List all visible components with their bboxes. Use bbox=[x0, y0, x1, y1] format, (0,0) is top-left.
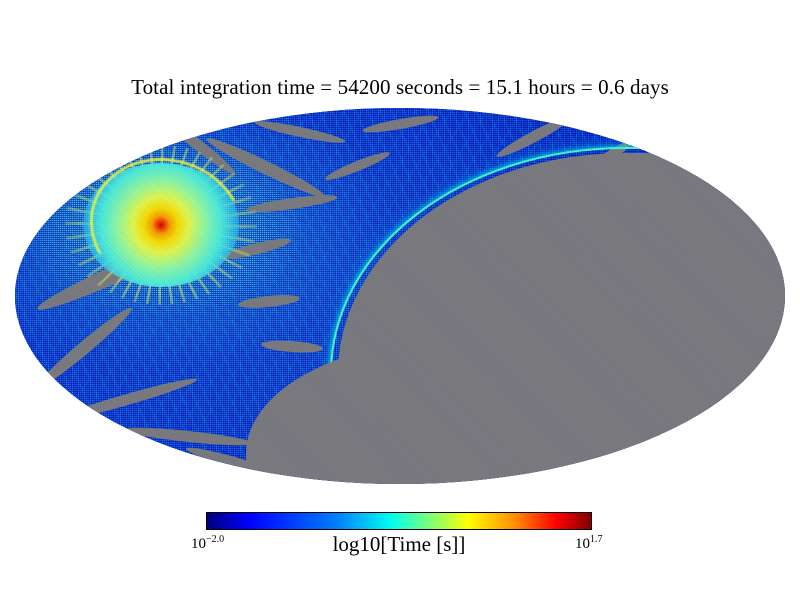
sky-map bbox=[15, 108, 785, 484]
colorbar-min-base: 10 bbox=[191, 536, 206, 552]
dither-overlay bbox=[15, 108, 785, 484]
mollweide-projection-area bbox=[15, 108, 785, 484]
colorbar bbox=[206, 512, 592, 530]
figure-canvas: Total integration time = 54200 seconds =… bbox=[0, 0, 800, 600]
page-title: Total integration time = 54200 seconds =… bbox=[0, 75, 800, 100]
colorbar-label: log10[Time [s]] bbox=[206, 532, 592, 557]
